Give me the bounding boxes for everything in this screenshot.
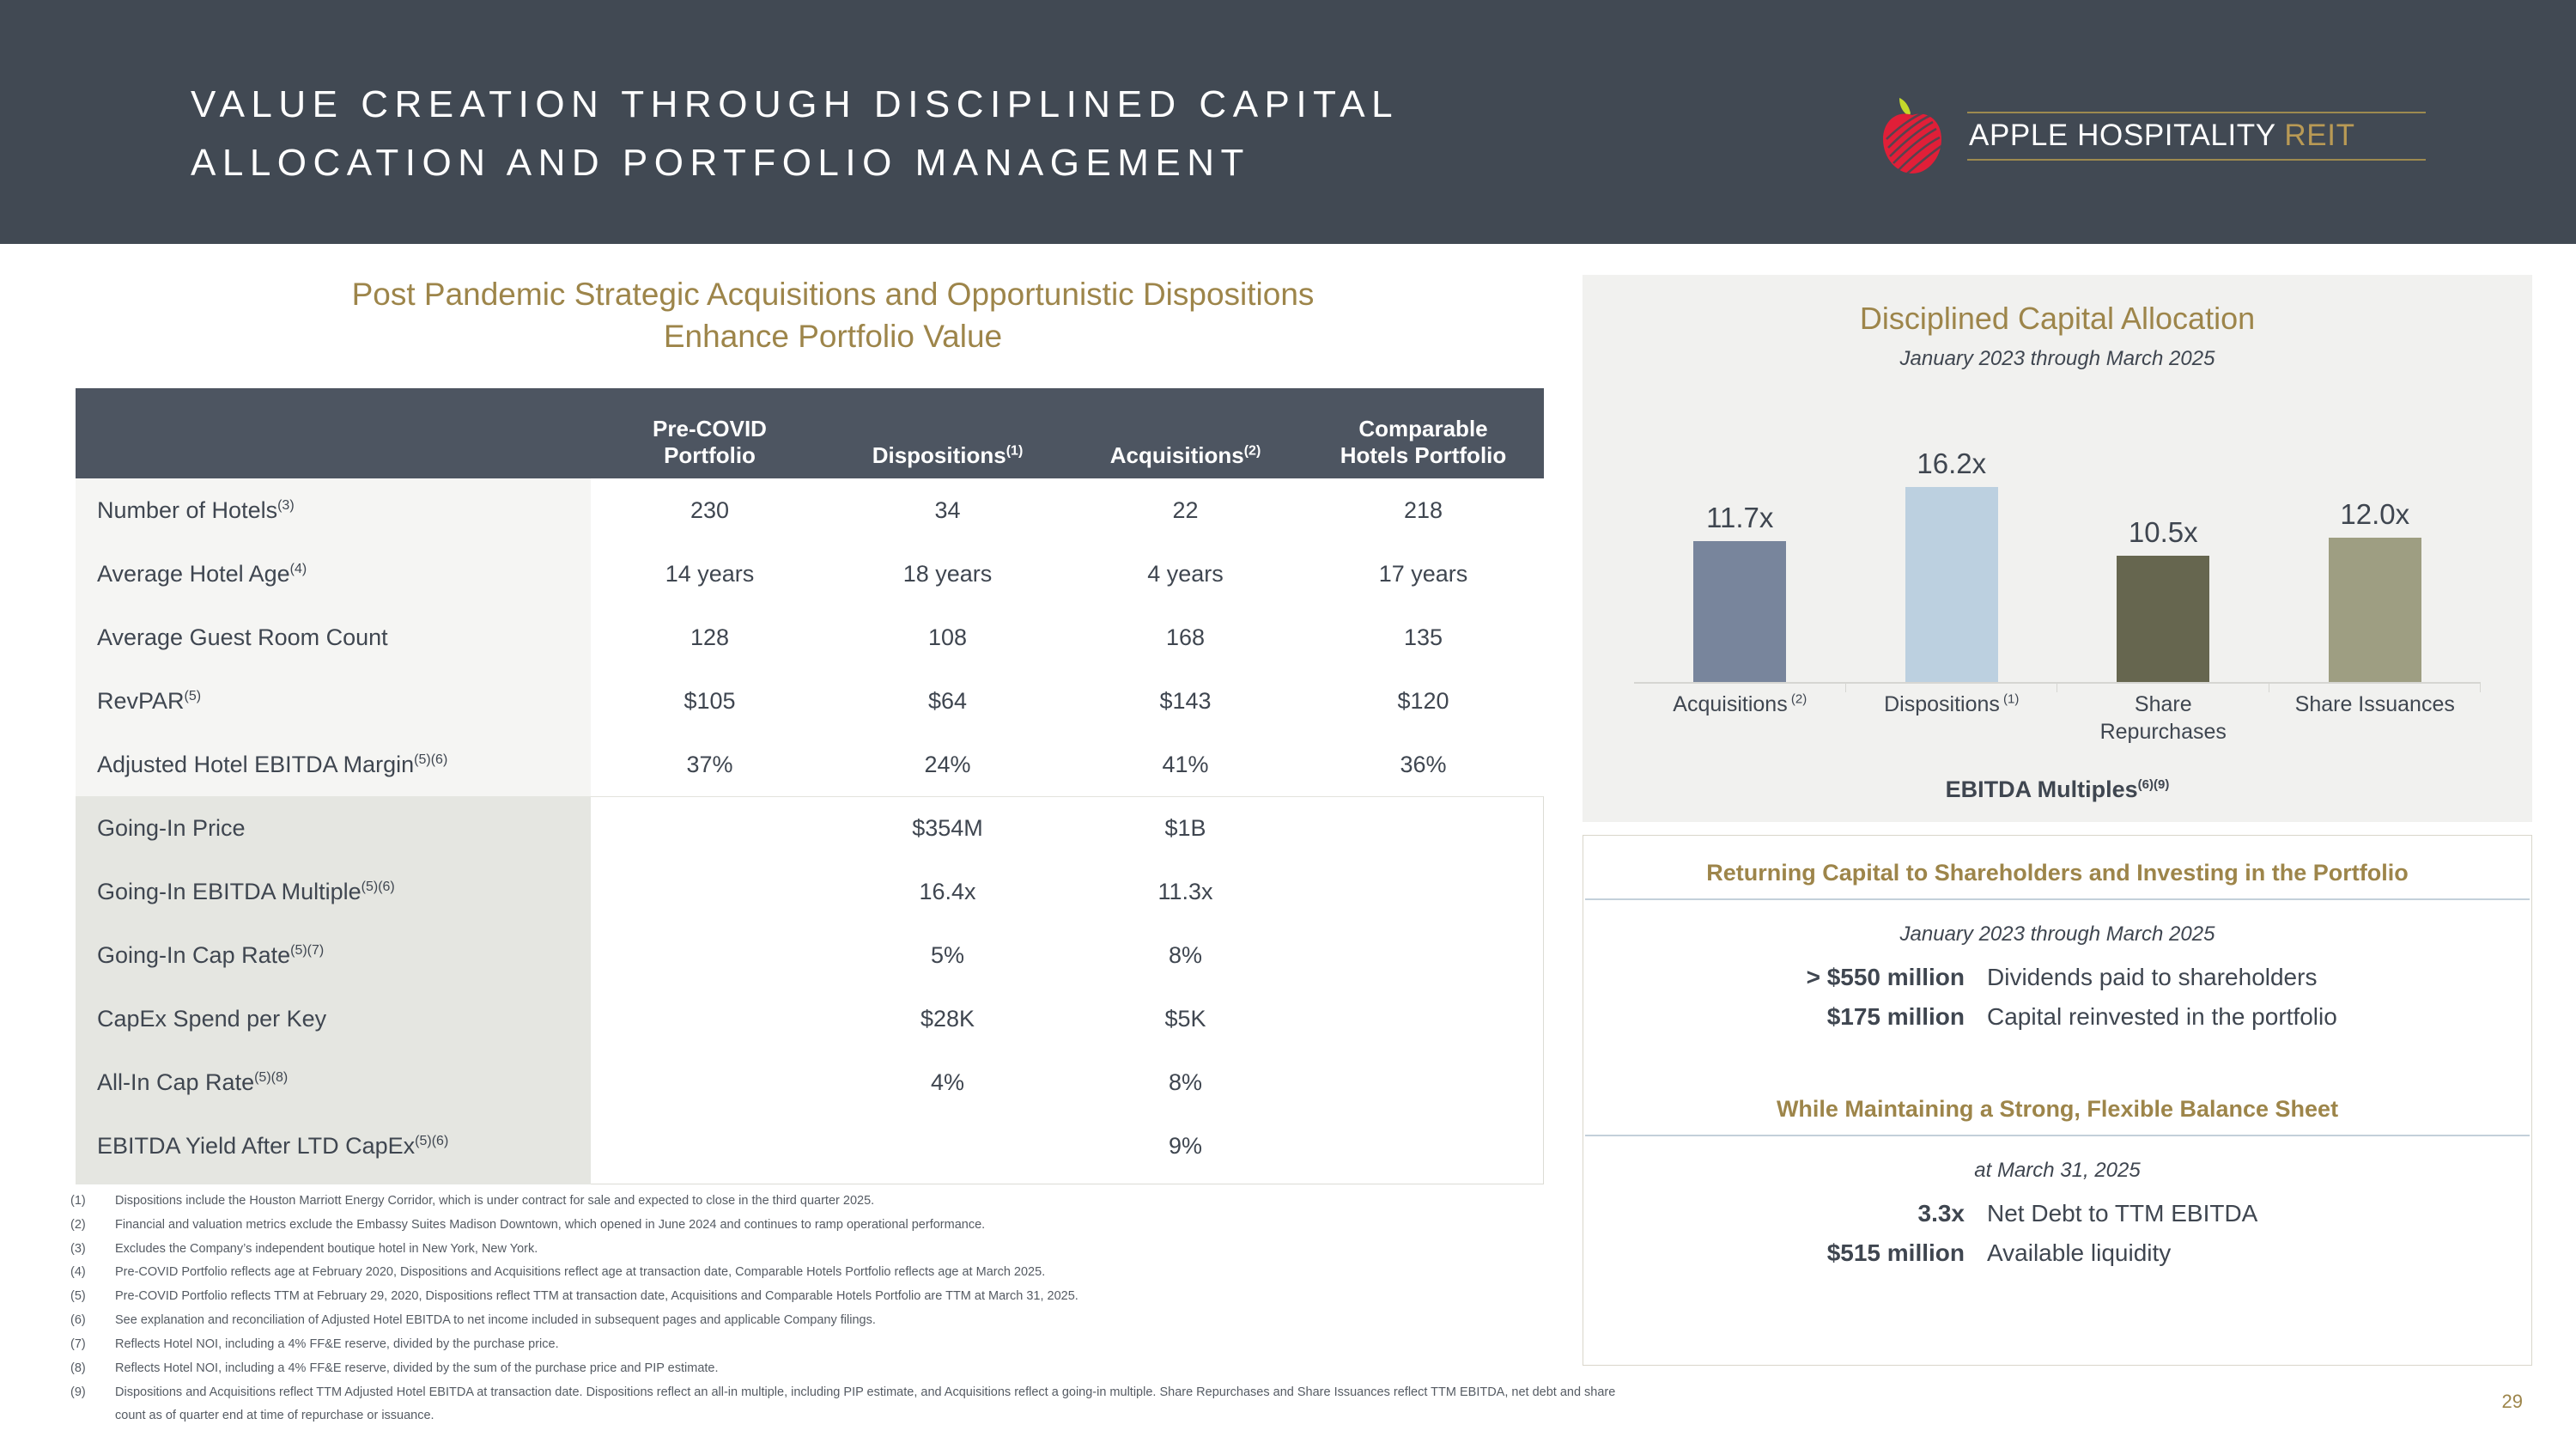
table-cell: 9% [1066,1133,1304,1160]
chart-x-labels: Acquisitions (2)Dispositions (1)ShareRep… [1634,691,2481,746]
footnote-ref: (5)(6) [415,1134,448,1148]
table-cell: $105 [591,688,829,715]
table-row: All-In Cap Rate(5)(8) 4%8% [76,1050,1544,1114]
chart-bar [1693,541,1786,682]
metric-value: > $550 million [1583,964,1987,991]
footnote-number: (2) [70,1214,115,1238]
chart-x-label-line: Share Issuances [2269,691,2482,718]
table-cell [591,879,829,905]
footnote-item: (1)Dispositions include the Houston Marr… [70,1190,1642,1214]
chart-bar-value-label: 11.7x [1706,502,1773,534]
table-cell: 36% [1304,752,1542,778]
metric-row: > $550 millionDividends paid to sharehol… [1583,964,2531,991]
footnote-number: (6) [70,1309,115,1333]
logo-word-primary: APPLE HOSPITALITY [1969,119,2275,152]
slide-header: Value Creation Through Disciplined Capit… [0,0,2576,244]
chart-bar [2117,556,2209,682]
capital-allocation-chart-card: Disciplined Capital Allocation January 2… [1583,275,2532,822]
chart-x-label-line: Repurchases [2057,718,2269,746]
table-cell [591,1133,829,1160]
table-cell [1304,1133,1542,1160]
table-row: Adjusted Hotel EBITDA Margin(5)(6)37%24%… [76,733,1544,796]
footnote-number: (1) [70,1190,115,1214]
footnote-ref: (1) [1006,444,1024,459]
table-cell: $5K [1066,1006,1304,1032]
chart-x-label: Dispositions (1) [1846,691,2058,746]
table-row-label: Number of Hotels(3) [76,497,591,524]
table-column-header: Acquisitions(2) [1066,416,1304,470]
table-row: EBITDA Yield After LTD CapEx(5)(6) 9% [76,1114,1544,1178]
metric-value: $175 million [1583,1003,1987,1031]
footnote-text: Dispositions and Acquisitions reflect TT… [115,1381,1642,1429]
table-cell: 11.3x [1066,879,1304,905]
chart-x-label-line: Share [2057,691,2269,718]
table-row-label: All-In Cap Rate(5)(8) [76,1069,591,1096]
metric-label: Capital reinvested in the portfolio [1987,1003,2337,1031]
chart-bar-value-label: 16.2x [1917,447,1986,480]
logo-words: APPLE HOSPITALITY REIT [1967,113,2426,159]
table-row: CapEx Spend per Key $28K$5K [76,987,1544,1050]
footnote-text: Excludes the Company’s independent bouti… [115,1238,1642,1262]
metric-label: Available liquidity [1987,1239,2171,1267]
left-section-title-line-2: Enhance Portfolio Value [120,315,1546,357]
table-cell [829,1133,1066,1160]
table-row-label: EBITDA Yield After LTD CapEx(5)(6) [76,1133,591,1160]
footnote-number: (4) [70,1261,115,1285]
table-row-label: Going-In Cap Rate(5)(7) [76,942,591,969]
footnote-ref: (5)(6) [414,752,447,767]
chart-axis-label-text: EBITDA Multiples [1946,776,2138,802]
footnote-item: (3)Excludes the Company’s independent bo… [70,1238,1642,1262]
logo-wordmark: APPLE HOSPITALITY REIT [1967,104,2426,168]
footnotes: (1)Dispositions include the Houston Marr… [70,1190,1642,1428]
table-row: Going-In Price $354M$1B [76,796,1544,860]
footnote-item: (2)Financial and valuation metrics exclu… [70,1214,1642,1238]
footnote-ref: (2) [1244,444,1261,459]
table-cell [591,1069,829,1096]
table-cell: 22 [1066,497,1304,524]
returning-capital-items: > $550 millionDividends paid to sharehol… [1583,947,2531,1031]
column-header-line-1 [832,416,1063,443]
table-cell: 230 [591,497,829,524]
footnote-number: (9) [70,1381,115,1429]
table-cell [1304,879,1542,905]
table-cell [1304,1006,1542,1032]
footnote-ref: (5)(7) [290,943,324,958]
footnote-text: Reflects Hotel NOI, including a 4% FF&E … [115,1357,1642,1381]
balance-sheet-period: at March 31, 2025 [1583,1136,2531,1183]
footnote-text: Pre-COVID Portfolio reflects age at Febr… [115,1261,1642,1285]
column-header-line-2: Hotels Portfolio [1340,442,1507,468]
footnote-number: (5) [70,1285,115,1309]
table-row: Average Hotel Age(4)14 years18 years4 ye… [76,542,1544,606]
chart-x-label: Acquisitions (2) [1634,691,1846,746]
footnote-text: See explanation and reconciliation of Ad… [115,1309,1642,1333]
table-row-label: Average Guest Room Count [76,624,591,651]
left-section-title-line-1: Post Pandemic Strategic Acquisitions and… [120,273,1546,315]
chart-title: Disciplined Capital Allocation [1583,301,2532,337]
column-header-line-1 [1070,416,1301,443]
metric-value: $515 million [1583,1239,1987,1267]
footnote-ref: (3) [277,498,295,513]
left-section-title: Post Pandemic Strategic Acquisitions and… [120,273,1546,357]
column-header-line-2: Dispositions [872,442,1006,468]
table-cell: 108 [829,624,1066,651]
company-logo: APPLE HOSPITALITY REIT [1876,93,2426,179]
metric-row: $515 millionAvailable liquidity [1583,1239,2531,1267]
table-cell: 8% [1066,942,1304,969]
footnote-text: Dispositions include the Houston Marriot… [115,1190,1642,1214]
table-cell: $354M [829,815,1066,842]
table-column-header: Pre-COVIDPortfolio [591,416,829,470]
footnote-text: Reflects Hotel NOI, including a 4% FF&E … [115,1333,1642,1357]
table-row-label: Average Hotel Age(4) [76,561,591,588]
capital-summary-card: Returning Capital to Shareholders and In… [1583,835,2532,1366]
footnote-number: (7) [70,1333,115,1357]
page-title-line-1: Value Creation Through Disciplined Capit… [191,76,1736,134]
chart-bar [2329,538,2421,682]
metric-row: $175 millionCapital reinvested in the po… [1583,1003,2531,1031]
table-row-label: Going-In EBITDA Multiple(5)(6) [76,879,591,905]
chart-bar-value-label: 12.0x [2340,498,2409,531]
table-cell: $143 [1066,688,1304,715]
portfolio-metrics-table: Pre-COVIDPortfolio Dispositions(1) Acqui… [76,388,1544,1178]
table-cell: 168 [1066,624,1304,651]
footnote-ref: (1) [2000,692,2020,707]
returning-capital-heading: Returning Capital to Shareholders and In… [1583,836,2531,898]
footnote-item: (5)Pre-COVID Portfolio reflects TTM at F… [70,1285,1642,1309]
chart-bar-group: 10.5x [2057,424,2269,682]
footnote-text: Financial and valuation metrics exclude … [115,1214,1642,1238]
table-cell: 128 [591,624,829,651]
table-cell: $28K [829,1006,1066,1032]
balance-sheet-items: 3.3xNet Debt to TTM EBITDA$515 millionAv… [1583,1183,2531,1267]
table-cell: 24% [829,752,1066,778]
table-cell: 8% [1066,1069,1304,1096]
table-row: Number of Hotels(3)2303422218 [76,478,1544,542]
table-row: Average Guest Room Count128108168135 [76,606,1544,669]
table-cell [591,942,829,969]
footnote-item: (7)Reflects Hotel NOI, including a 4% FF… [70,1333,1642,1357]
column-header-line-1: Comparable [1308,416,1539,443]
chart-axis-label: EBITDA Multiples(6)(9) [1583,776,2532,803]
footnote-number: (3) [70,1238,115,1262]
table-header-row: Pre-COVIDPortfolio Dispositions(1) Acqui… [76,388,1544,478]
table-cell: 218 [1304,497,1542,524]
table-cell: 5% [829,942,1066,969]
table-cell: 41% [1066,752,1304,778]
returning-capital-period: January 2023 through March 2025 [1583,900,2531,947]
table-column-header [76,442,591,470]
footnote-text: Pre-COVID Portfolio reflects TTM at Febr… [115,1285,1642,1309]
table-row-label: CapEx Spend per Key [76,1006,591,1032]
table-row: Going-In EBITDA Multiple(5)(6) 16.4x11.3… [76,860,1544,923]
page-title-line-2: Allocation and Portfolio Management [191,134,1736,192]
logo-rule-bottom [1967,159,2426,161]
table-cell [591,815,829,842]
table-row: RevPAR(5)$105$64$143$120 [76,669,1544,733]
page-title: Value Creation Through Disciplined Capit… [191,76,1736,192]
table-cell: 17 years [1304,561,1542,588]
chart-bar-group: 12.0x [2269,424,2482,682]
footnote-number: (8) [70,1357,115,1381]
table-column-header: Dispositions(1) [829,416,1066,470]
metric-value: 3.3x [1583,1200,1987,1227]
footnote-ref: (5)(8) [254,1070,288,1085]
footnote-ref: (2) [1788,692,1807,707]
chart-plot-area: 11.7x16.2x10.5x12.0x Acquisitions (2)Dis… [1634,395,2481,739]
table-cell [1304,815,1542,842]
table-cell: 16.4x [829,879,1066,905]
chart-x-label: ShareRepurchases [2057,691,2269,746]
table-cell: 135 [1304,624,1542,651]
chart-axis-label-sup: (6)(9) [2138,777,2170,792]
chart-bar-value-label: 10.5x [2129,516,2198,549]
table-row-label: Going-In Price [76,815,591,842]
column-header-line-2: Acquisitions [1110,442,1244,468]
table-column-header: ComparableHotels Portfolio [1304,416,1542,470]
chart-bar-group: 11.7x [1634,424,1846,682]
table-row: Going-In Cap Rate(5)(7) 5%8% [76,923,1544,987]
footnote-ref: (4) [290,562,307,576]
table-cell: $120 [1304,688,1542,715]
table-cell: $64 [829,688,1066,715]
table-cell: 14 years [591,561,829,588]
footnote-ref: (5)(6) [361,880,395,894]
metric-row: 3.3xNet Debt to TTM EBITDA [1583,1200,2531,1227]
chart-x-label-line: Dispositions (1) [1846,691,2058,718]
chart-subtitle: January 2023 through March 2025 [1583,347,2532,371]
chart-x-label-line: Acquisitions (2) [1634,691,1846,718]
metric-label: Net Debt to TTM EBITDA [1987,1200,2257,1227]
table-row-label: RevPAR(5) [76,688,591,715]
footnote-item: (9)Dispositions and Acquisitions reflect… [70,1381,1642,1429]
footnote-ref: (5) [185,689,202,703]
footnote-item: (6)See explanation and reconciliation of… [70,1309,1642,1333]
footnote-item: (8)Reflects Hotel NOI, including a 4% FF… [70,1357,1642,1381]
chart-bar [1905,487,1998,682]
chart-bar-group: 16.2x [1846,424,2058,682]
table-cell: 34 [829,497,1066,524]
chart-x-label: Share Issuances [2269,691,2482,746]
table-body: Number of Hotels(3)2303422218Average Hot… [76,478,1544,1178]
chart-bars: 11.7x16.2x10.5x12.0x [1634,424,2481,682]
footnote-item: (4)Pre-COVID Portfolio reflects age at F… [70,1261,1642,1285]
table-cell [1304,1069,1542,1096]
table-cell: 37% [591,752,829,778]
table-cell: 4% [829,1069,1066,1096]
table-cell [591,1006,829,1032]
balance-sheet-heading: While Maintaining a Strong, Flexible Bal… [1583,1072,2531,1135]
column-header-line-2: Portfolio [664,442,756,468]
metric-label: Dividends paid to shareholders [1987,964,2317,991]
table-cell [1304,942,1542,969]
table-row-label: Adjusted Hotel EBITDA Margin(5)(6) [76,752,591,778]
column-header-line-1: Pre-COVID [594,416,825,443]
logo-word-secondary: REIT [2284,119,2354,152]
table-cell: 4 years [1066,561,1304,588]
column-header-line-1 [79,442,587,470]
apple-logo-icon [1876,96,1948,175]
page-number: 29 [2502,1391,2523,1413]
table-cell: 18 years [829,561,1066,588]
table-cell: $1B [1066,815,1304,842]
